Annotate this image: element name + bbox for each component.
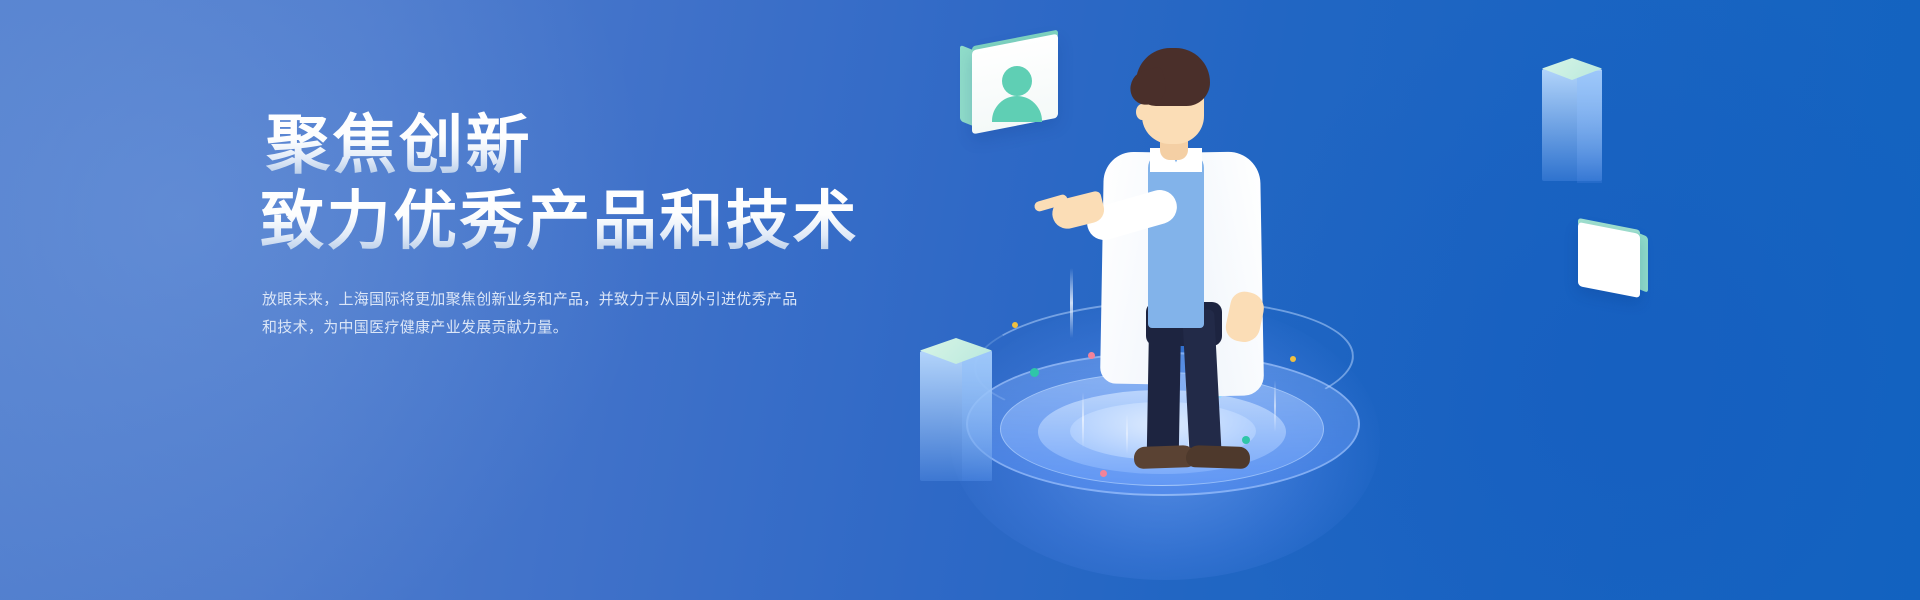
headline-line-1: 聚焦创新 [266, 108, 882, 182]
leg-left [1147, 310, 1182, 459]
particle-dot [1012, 322, 1018, 328]
shirt [1148, 152, 1204, 328]
particle-dot [1100, 470, 1107, 477]
hero-banner: 聚焦创新 致力优秀产品和技术 放眼未来，上海国际将更加聚焦创新业务和产品，并致力… [0, 0, 1920, 600]
card-face [1578, 222, 1640, 298]
headline-line-2: 致力优秀产品和技术 [260, 182, 882, 260]
doctor-figure [1050, 48, 1290, 468]
pillar-side [1577, 71, 1602, 183]
shoe-right [1186, 445, 1251, 469]
floating-user-card [960, 42, 1060, 126]
subtitle-line-2: 和技术，为中国医疗健康产业发展贡献力量。 [262, 314, 842, 342]
particle-dot [1030, 368, 1039, 377]
hero-illustration [930, 0, 1730, 600]
user-avatar-icon [1002, 66, 1032, 96]
banner-copy: 聚焦创新 致力优秀产品和技术 放眼未来，上海国际将更加聚焦创新业务和产品，并致力… [262, 108, 882, 342]
pillar-side [962, 351, 992, 481]
banner-subtitle: 放眼未来，上海国际将更加聚焦创新业务和产品，并致力于从国外引进优秀产品 和技术，… [262, 286, 842, 342]
iso-pillar-right [1542, 58, 1602, 188]
subtitle-line-1: 放眼未来，上海国际将更加聚焦创新业务和产品，并致力于从国外引进优秀产品 [262, 286, 842, 314]
iso-pillar-left [920, 338, 992, 488]
particle-dot [1290, 356, 1296, 362]
floating-blank-card [1578, 228, 1650, 292]
